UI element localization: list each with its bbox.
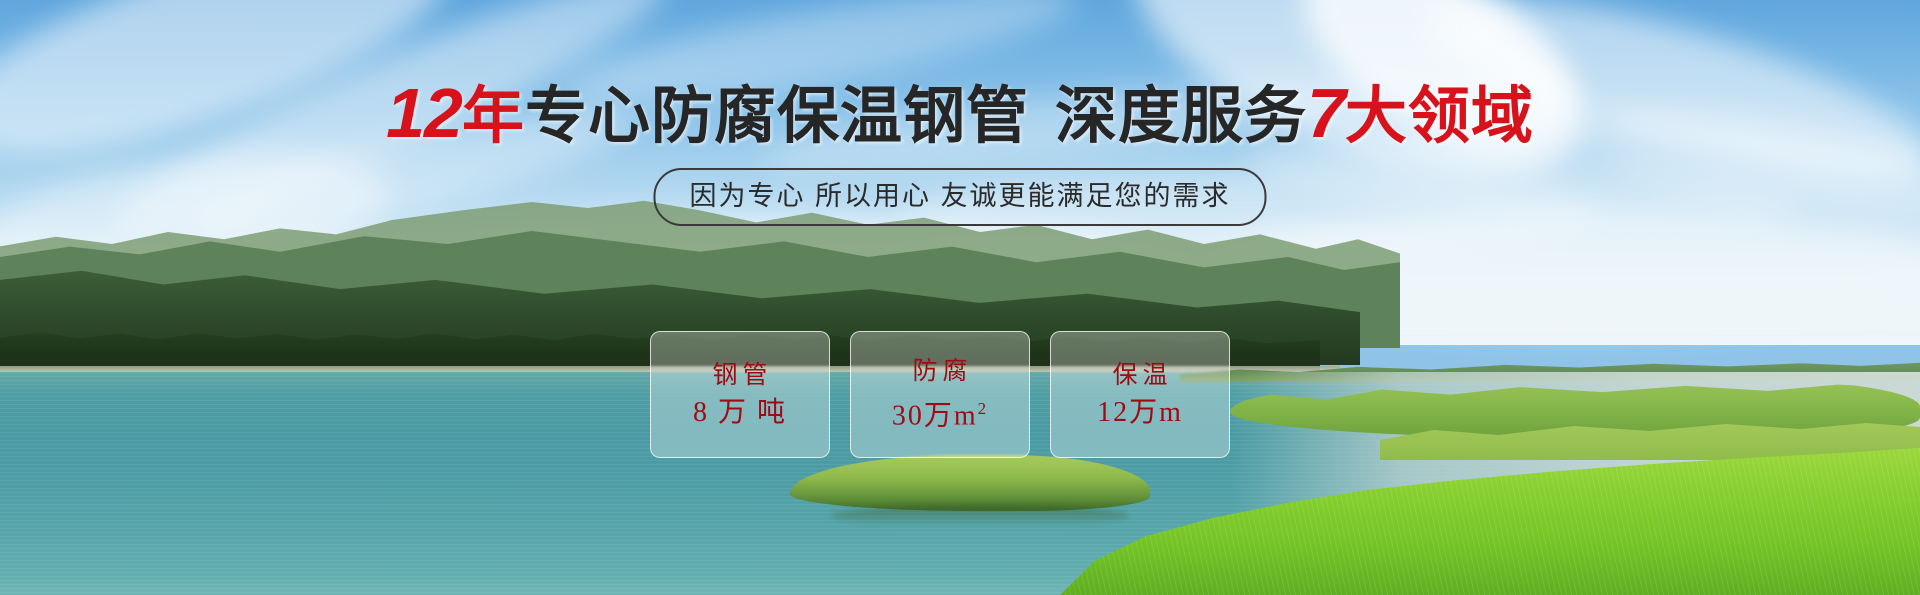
headline-main-text: 专心防腐保温钢管: [525, 82, 1029, 151]
headline-service-text: 深度服务: [1055, 82, 1307, 151]
stat-title: 保温: [1107, 361, 1172, 389]
stat-value-main: 8 万 吨: [693, 397, 787, 428]
stat-value-main: 12万m: [1097, 397, 1183, 428]
island-reflection: [830, 505, 1130, 527]
stat-card-anticorrosion[interactable]: 防腐 30万m2: [850, 331, 1030, 458]
headline-years-unit: 年: [462, 82, 525, 151]
banner-headline: 12年专心防腐保温钢管深度服务7大领域: [0, 80, 1920, 150]
stat-value: 8 万 吨: [693, 397, 787, 429]
island-vegetation: [790, 455, 1150, 511]
headline-years-number: 12: [386, 74, 462, 152]
stat-value: 12万m: [1097, 397, 1183, 429]
stat-value-main: 30万m: [892, 400, 978, 431]
grass-island: [790, 455, 1150, 529]
headline-fields-word: 大领域: [1345, 82, 1534, 151]
stat-card-group: 钢管 8 万 吨 防腐 30万m2 保温 12万m: [650, 331, 1230, 458]
stat-value-superscript: 2: [978, 399, 989, 418]
stat-card-steel-pipe[interactable]: 钢管 8 万 吨: [650, 331, 830, 458]
stat-title: 钢管: [707, 361, 772, 389]
headline-fields-number: 7: [1307, 74, 1345, 152]
hero-banner: 12年专心防腐保温钢管深度服务7大领域 因为专心 所以用心 友诚更能满足您的需求…: [0, 0, 1920, 595]
stat-value: 30万m2: [892, 393, 988, 432]
stat-card-insulation[interactable]: 保温 12万m: [1050, 331, 1230, 458]
stat-title: 防腐: [907, 357, 972, 385]
banner-subtitle-pill: 因为专心 所以用心 友诚更能满足您的需求: [653, 168, 1266, 226]
